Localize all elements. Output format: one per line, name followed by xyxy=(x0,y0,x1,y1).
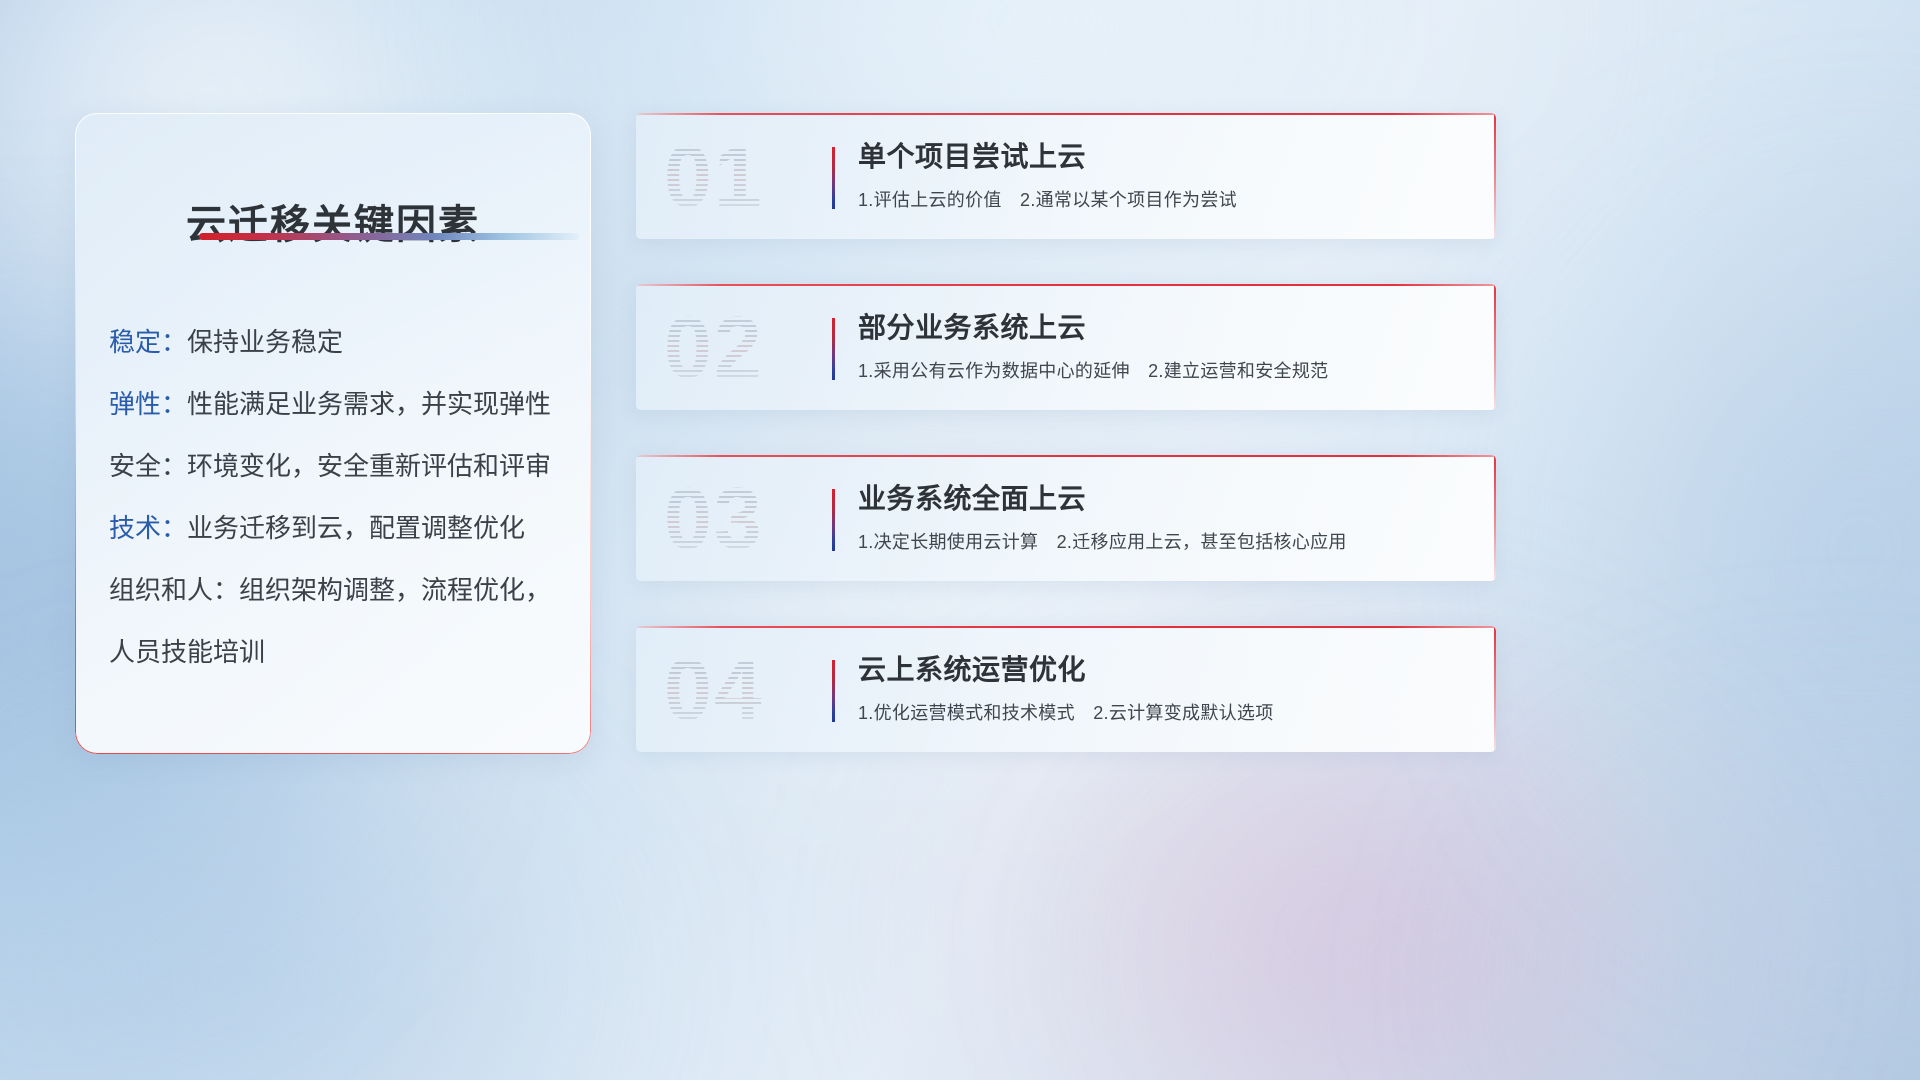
stage-title: 云上系统运营优化 xyxy=(858,650,1474,690)
stage-card-01[interactable]: 01 单个项目尝试上云 1.评估上云的价值 2.通常以某个项目作为尝试 xyxy=(636,113,1496,239)
list-item-label: 安全： xyxy=(109,446,187,483)
card-top-accent-line xyxy=(636,455,1496,457)
card-top-accent-line xyxy=(636,113,1496,115)
list-item-label: 稳定： xyxy=(109,322,187,359)
list-item: 人员技能培训 xyxy=(109,619,571,681)
stage-card-03[interactable]: 03 业务系统全面上云 1.决定长期使用云计算 2.迁移应用上云，甚至包括核心应… xyxy=(636,455,1496,581)
card-text-block: 业务系统全面上云 1.决定长期使用云计算 2.迁移应用上云，甚至包括核心应用 xyxy=(858,479,1474,554)
stage-title: 部分业务系统上云 xyxy=(858,308,1474,348)
list-item: 技术： 业务迁移到云，配置调整优化 xyxy=(109,495,571,557)
key-factors-list: 稳定： 保持业务稳定 弹性： 性能满足业务需求，并实现弹性 安全： 环境变化，安… xyxy=(109,309,571,681)
card-right-accent-line xyxy=(1494,626,1496,752)
list-item-value: 组织架构调整，流程优化， xyxy=(239,570,551,607)
migration-stages-list: 01 单个项目尝试上云 1.评估上云的价值 2.通常以某个项目作为尝试 02 部… xyxy=(636,113,1496,797)
list-item: 安全： 环境变化，安全重新评估和评审 xyxy=(109,433,571,495)
stage-number-glyph: 04 xyxy=(664,642,824,738)
stage-number-01: 01 xyxy=(664,129,824,225)
stage-subtitle: 1.决定长期使用云计算 2.迁移应用上云，甚至包括核心应用 xyxy=(858,528,1474,554)
list-item: 弹性： 性能满足业务需求，并实现弹性 xyxy=(109,371,571,433)
list-item-label: 弹性： xyxy=(109,384,187,421)
list-item: 组织和人： 组织架构调整，流程优化， xyxy=(109,557,571,619)
stage-subtitle: 1.优化运营模式和技术模式 2.云计算变成默认选项 xyxy=(858,699,1474,725)
list-item-label: 技术： xyxy=(109,508,187,545)
stage-number-glyph: 01 xyxy=(664,129,824,225)
list-item-value: 环境变化，安全重新评估和评审 xyxy=(187,446,551,483)
list-item: 稳定： 保持业务稳定 xyxy=(109,309,571,371)
list-item-value: 业务迁移到云，配置调整优化 xyxy=(187,508,525,545)
key-factors-panel: 云迁移关键因素 稳定： 保持业务稳定 弹性： 性能满足业务需求，并实现弹性 安全… xyxy=(75,113,591,754)
card-accent-bar xyxy=(832,318,835,380)
card-text-block: 部分业务系统上云 1.采用公有云作为数据中心的延伸 2.建立运营和安全规范 xyxy=(858,308,1474,383)
stage-number-02: 02 xyxy=(664,300,824,396)
card-top-accent-line xyxy=(636,284,1496,286)
card-right-accent-line xyxy=(1494,455,1496,581)
card-accent-bar xyxy=(832,489,835,551)
card-text-block: 云上系统运营优化 1.优化运营模式和技术模式 2.云计算变成默认选项 xyxy=(858,650,1474,725)
title-underline-gradient xyxy=(199,233,579,240)
stage-card-04[interactable]: 04 云上系统运营优化 1.优化运营模式和技术模式 2.云计算变成默认选项 xyxy=(636,626,1496,752)
list-item-value: 保持业务稳定 xyxy=(187,322,343,359)
card-accent-bar xyxy=(832,660,835,722)
card-accent-bar xyxy=(832,147,835,209)
card-right-accent-line xyxy=(1494,284,1496,410)
list-item-label: 组织和人： xyxy=(109,570,239,607)
list-item-value: 性能满足业务需求，并实现弹性 xyxy=(187,384,551,421)
list-item-value: 人员技能培训 xyxy=(109,632,265,669)
stage-subtitle: 1.评估上云的价值 2.通常以某个项目作为尝试 xyxy=(858,186,1474,212)
stage-number-04: 04 xyxy=(664,642,824,738)
card-top-accent-line xyxy=(636,626,1496,628)
stage-card-02[interactable]: 02 部分业务系统上云 1.采用公有云作为数据中心的延伸 2.建立运营和安全规范 xyxy=(636,284,1496,410)
stage-title: 单个项目尝试上云 xyxy=(858,137,1474,177)
card-text-block: 单个项目尝试上云 1.评估上云的价值 2.通常以某个项目作为尝试 xyxy=(858,137,1474,212)
stage-number-glyph: 03 xyxy=(664,471,824,567)
stage-number-03: 03 xyxy=(664,471,824,567)
stage-subtitle: 1.采用公有云作为数据中心的延伸 2.建立运营和安全规范 xyxy=(858,357,1474,383)
card-right-accent-line xyxy=(1494,113,1496,239)
stage-number-glyph: 02 xyxy=(664,300,824,396)
stage-title: 业务系统全面上云 xyxy=(858,479,1474,519)
page-title: 云迁移关键因素 xyxy=(75,192,591,250)
